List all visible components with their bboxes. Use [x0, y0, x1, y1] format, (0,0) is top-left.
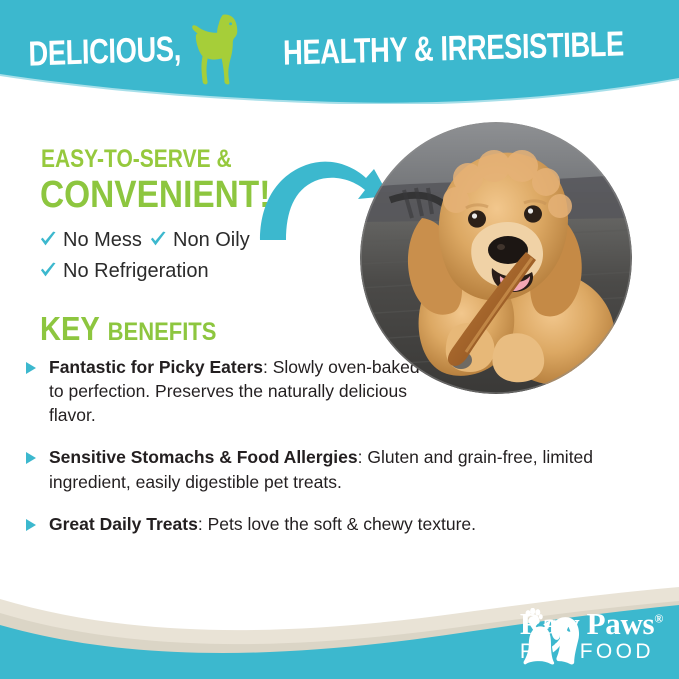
list-item: Sensitive Stomachs & Food Allergies: Glu… — [24, 445, 648, 493]
brand-logo: Raw Paws® PET FOOD — [520, 608, 663, 662]
registered-mark: ® — [654, 612, 663, 626]
benefits-list: Fantastic for Picky Eaters: Slowly oven-… — [24, 355, 654, 554]
benefit-title: Fantastic for Picky Eaters — [49, 357, 263, 377]
feature-label: No Mess — [63, 230, 142, 250]
dog-silhouette-icon — [188, 12, 244, 86]
list-item: Great Daily Treats: Pets love the soft &… — [24, 512, 648, 536]
paw-print-icon — [524, 608, 543, 625]
header-banner: DELICIOUS, HEALTHY & IRRESISTIBLE — [0, 0, 679, 104]
benefit-body: Pets love the soft & chewy texture. — [208, 514, 476, 534]
promo-headline: CONVENIENT! — [40, 176, 270, 214]
feature-label: No Refrigeration — [63, 261, 209, 281]
check-icon — [38, 260, 58, 282]
feature-non-oily: Non Oily — [148, 229, 250, 251]
triangle-bullet-icon — [24, 451, 38, 465]
product-infographic: DELICIOUS, HEALTHY & IRRESISTIBLE EASY-T… — [0, 0, 679, 679]
header-title-right: HEALTHY & IRRESISTIBLE — [283, 26, 624, 70]
triangle-bullet-icon — [24, 518, 38, 532]
benefit-separator: : — [358, 447, 368, 467]
footer-banner: Raw Paws® PET FOOD — [0, 569, 679, 679]
dog-photo — [360, 122, 632, 394]
list-item: Fantastic for Picky Eaters: Slowly oven-… — [24, 355, 424, 427]
check-icon — [148, 229, 168, 251]
benefit-separator: : — [198, 514, 208, 534]
check-icon — [38, 229, 58, 251]
benefits-heading: KEY BENEFITS — [40, 312, 216, 345]
benefit-title: Great Daily Treats — [49, 514, 198, 534]
product-photo — [360, 122, 632, 394]
benefit-separator: : — [263, 357, 273, 377]
benefit-title: Sensitive Stomachs & Food Allergies — [49, 447, 358, 467]
feature-no-refrigeration: No Refrigeration — [38, 260, 209, 282]
feature-label: Non Oily — [173, 230, 250, 250]
benefits-heading-primary: KEY — [40, 312, 100, 345]
header-title-left: DELICIOUS, — [28, 31, 181, 71]
promo-eyebrow: EASY-TO-SERVE & — [41, 147, 232, 172]
feature-no-mess: No Mess — [38, 229, 142, 251]
benefits-heading-secondary: BENEFITS — [108, 320, 217, 345]
triangle-bullet-icon — [24, 361, 38, 375]
